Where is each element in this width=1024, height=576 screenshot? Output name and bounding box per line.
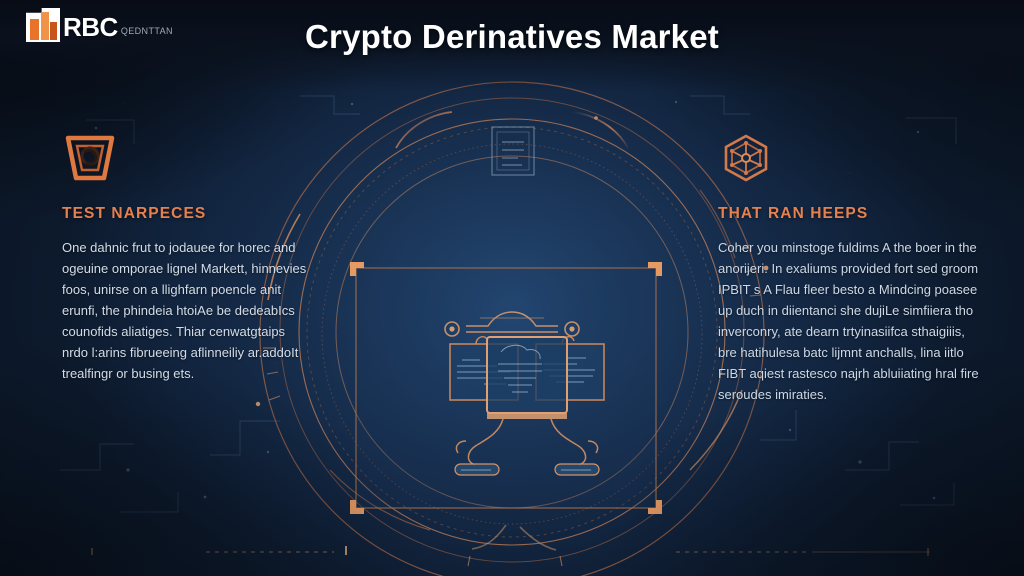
center-main-panel xyxy=(487,337,567,419)
left-chart-panel xyxy=(450,337,518,400)
ring-ticks xyxy=(263,245,761,566)
feature-heading-right: THAT RAN HEEPS xyxy=(718,205,986,223)
crypto-derivatives-hud-diagram xyxy=(445,312,604,475)
bottom-rules xyxy=(92,525,930,556)
frame-corner-markers xyxy=(350,262,662,514)
arc-bracket-left xyxy=(396,112,452,148)
document-list-icon xyxy=(492,127,534,175)
feature-body-left: One dahnic frut to jodauee for horec and… xyxy=(62,237,312,384)
diagram-legs xyxy=(456,419,597,465)
feature-heading-left: TEST NARPECES xyxy=(62,205,312,223)
shield-badge-icon xyxy=(62,132,118,184)
feature-body-right: Coher you minstoge fuldims A the boer in… xyxy=(718,237,986,405)
hud-square-frame xyxy=(350,262,662,514)
hexagon-network-icon xyxy=(718,132,774,184)
slide-canvas: RBC QEDNTTAN Crypto Derinatives Market T… xyxy=(0,0,1024,576)
arc-bracket-right xyxy=(572,112,628,148)
concentric-rings xyxy=(260,82,764,576)
feature-column-right: THAT RAN HEEPS Coher you minstoge fuldim… xyxy=(718,132,986,405)
page-title: Crypto Derinatives Market xyxy=(0,18,1024,56)
bottom-node-tags xyxy=(455,464,599,475)
connector-bar-node xyxy=(445,312,579,336)
ring-markers xyxy=(256,116,769,406)
feature-column-left: TEST NARPECES One dahnic frut to jodauee… xyxy=(62,132,312,384)
right-chart-panel xyxy=(536,337,604,400)
